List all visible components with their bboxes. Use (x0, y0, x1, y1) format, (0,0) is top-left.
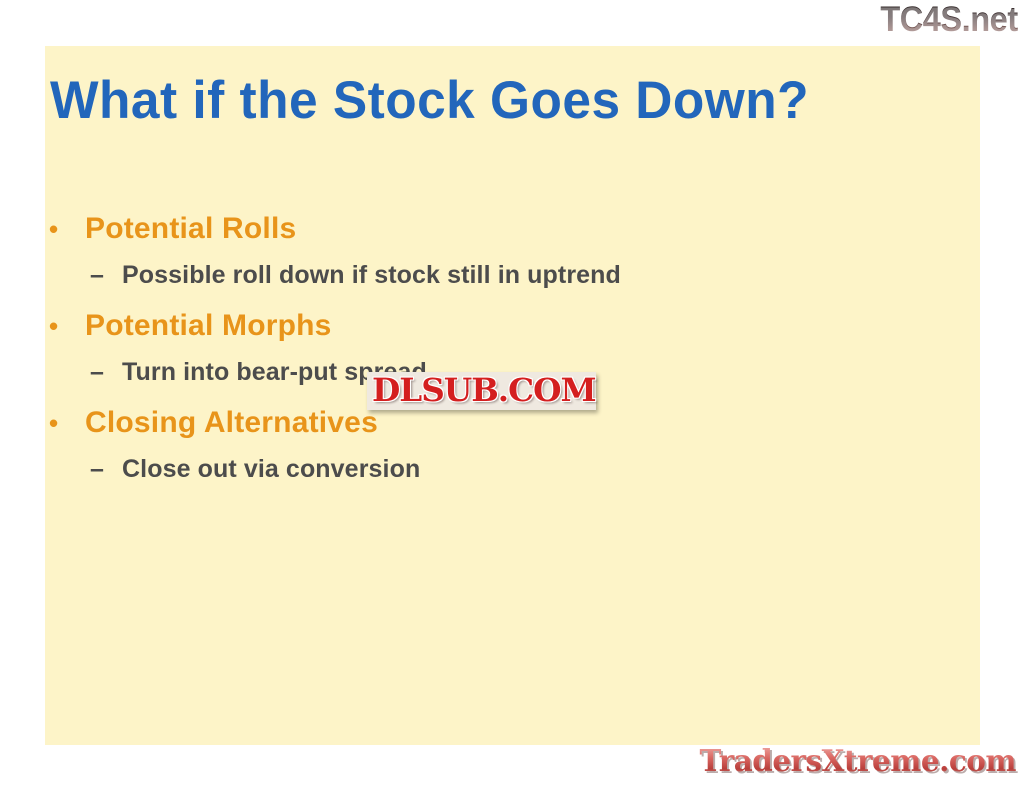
slide-title: What if the Stock Goes Down? (50, 70, 884, 132)
bullet-item: • Potential Morphs (45, 302, 925, 350)
bullet-list: • Potential Rolls – Possible roll down i… (45, 205, 925, 496)
brand-watermark: TradersXtreme.com (699, 745, 1016, 779)
bullet-dot-icon: • (45, 399, 85, 447)
bullet-item: • Potential Rolls (45, 205, 925, 253)
bullet-dot-icon: • (45, 205, 85, 253)
sub-bullet-label: Possible roll down if stock still in upt… (122, 253, 925, 298)
site-logo: TC4S.net (881, 0, 1018, 40)
dash-icon: – (90, 350, 122, 395)
bullet-label: Potential Rolls (85, 205, 925, 253)
bullet-dot-icon: • (45, 302, 85, 350)
sub-bullet-item: – Possible roll down if stock still in u… (45, 253, 925, 298)
overlay-watermark: DLSUB.COM (367, 372, 596, 410)
dash-icon: – (90, 447, 122, 492)
sub-bullet-item: – Close out via conversion (45, 447, 925, 492)
bullet-group: • Closing Alternatives – Close out via c… (45, 399, 925, 492)
sub-bullet-label: Close out via conversion (122, 447, 925, 492)
bullet-group: • Potential Rolls – Possible roll down i… (45, 205, 925, 298)
dash-icon: – (90, 253, 122, 298)
bullet-label: Potential Morphs (85, 302, 925, 350)
slide-root: TC4S.net What if the Stock Goes Down? • … (0, 0, 1024, 791)
overlay-watermark-label: DLSUB.COM (372, 373, 596, 407)
